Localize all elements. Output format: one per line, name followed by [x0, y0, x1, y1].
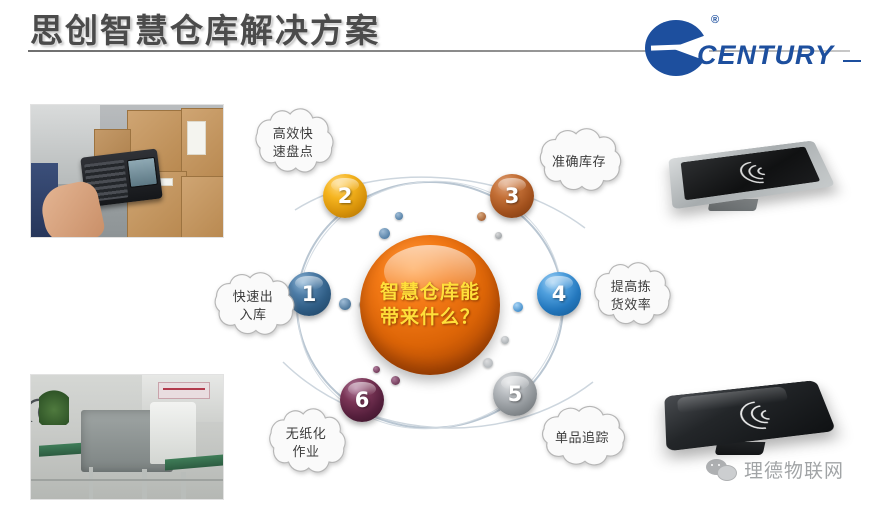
node-3[interactable]: 3 [490, 174, 534, 218]
node-1-number: 1 [302, 282, 317, 306]
node-6-number: 6 [355, 388, 370, 412]
logo-wordmark: CENTURY [697, 40, 834, 71]
bead [391, 376, 400, 385]
bead [477, 212, 486, 221]
center-question-line1: 智慧仓库能 [380, 280, 480, 305]
conveyor-tunnel-reader-photo [30, 374, 224, 500]
registered-mark: ® [711, 14, 719, 26]
bead [513, 302, 523, 312]
node-2-number: 2 [338, 184, 353, 208]
bead [501, 336, 509, 344]
handheld-rfid-scanner-photo [30, 104, 224, 238]
callout-cloud-6: 无纸化 作业 [260, 404, 352, 484]
node-5[interactable]: 5 [493, 372, 537, 416]
callout-cloud-4: 提高拣 货效率 [585, 258, 677, 336]
page-title: 思创智慧仓库解决方案 [30, 4, 380, 52]
logo-dash [843, 60, 861, 62]
pad-rfid-reader-photo [660, 368, 836, 464]
node-4[interactable]: 4 [537, 272, 581, 316]
callout-cloud-1: 快速出 入库 [205, 268, 301, 346]
watermark-text: 理德物联网 [744, 456, 844, 483]
callout-cloud-2: 高效快 速盘点 [246, 104, 340, 184]
cloud-6-label: 无纸化 作业 [282, 426, 331, 461]
callout-cloud-3: 准确库存 [530, 124, 628, 202]
node-3-number: 3 [505, 184, 520, 208]
node-4-number: 4 [552, 282, 567, 306]
center-question: 智慧仓库能 带来什么？ [360, 235, 500, 375]
cloud-1-label: 快速出 入库 [229, 289, 278, 324]
center-sphere: 智慧仓库能 带来什么？ [360, 235, 500, 375]
cloud-5-label: 单品追踪 [551, 430, 613, 448]
century-logo: ® CENTURY [645, 14, 860, 80]
cloud-4-label: 提高拣 货效率 [607, 279, 656, 314]
bead [339, 298, 351, 310]
rfid-wave-icon [722, 393, 810, 435]
node-5-number: 5 [508, 382, 523, 406]
rfid-wave-icon [725, 155, 799, 187]
header: 思创智慧仓库解决方案 ® CENTURY [0, 0, 879, 90]
callout-cloud-5: 单品追踪 [532, 402, 632, 476]
watermark: 理德物联网 [706, 456, 844, 483]
slide-canvas: 思创智慧仓库解决方案 ® CENTURY [0, 0, 879, 510]
cloud-2-label: 高效快 速盘点 [269, 126, 318, 161]
wechat-icon [706, 459, 736, 481]
center-question-line2: 带来什么？ [380, 305, 480, 330]
desktop-rfid-reader-photo [665, 125, 835, 217]
cloud-3-label: 准确库存 [548, 154, 610, 172]
bead [395, 212, 403, 220]
